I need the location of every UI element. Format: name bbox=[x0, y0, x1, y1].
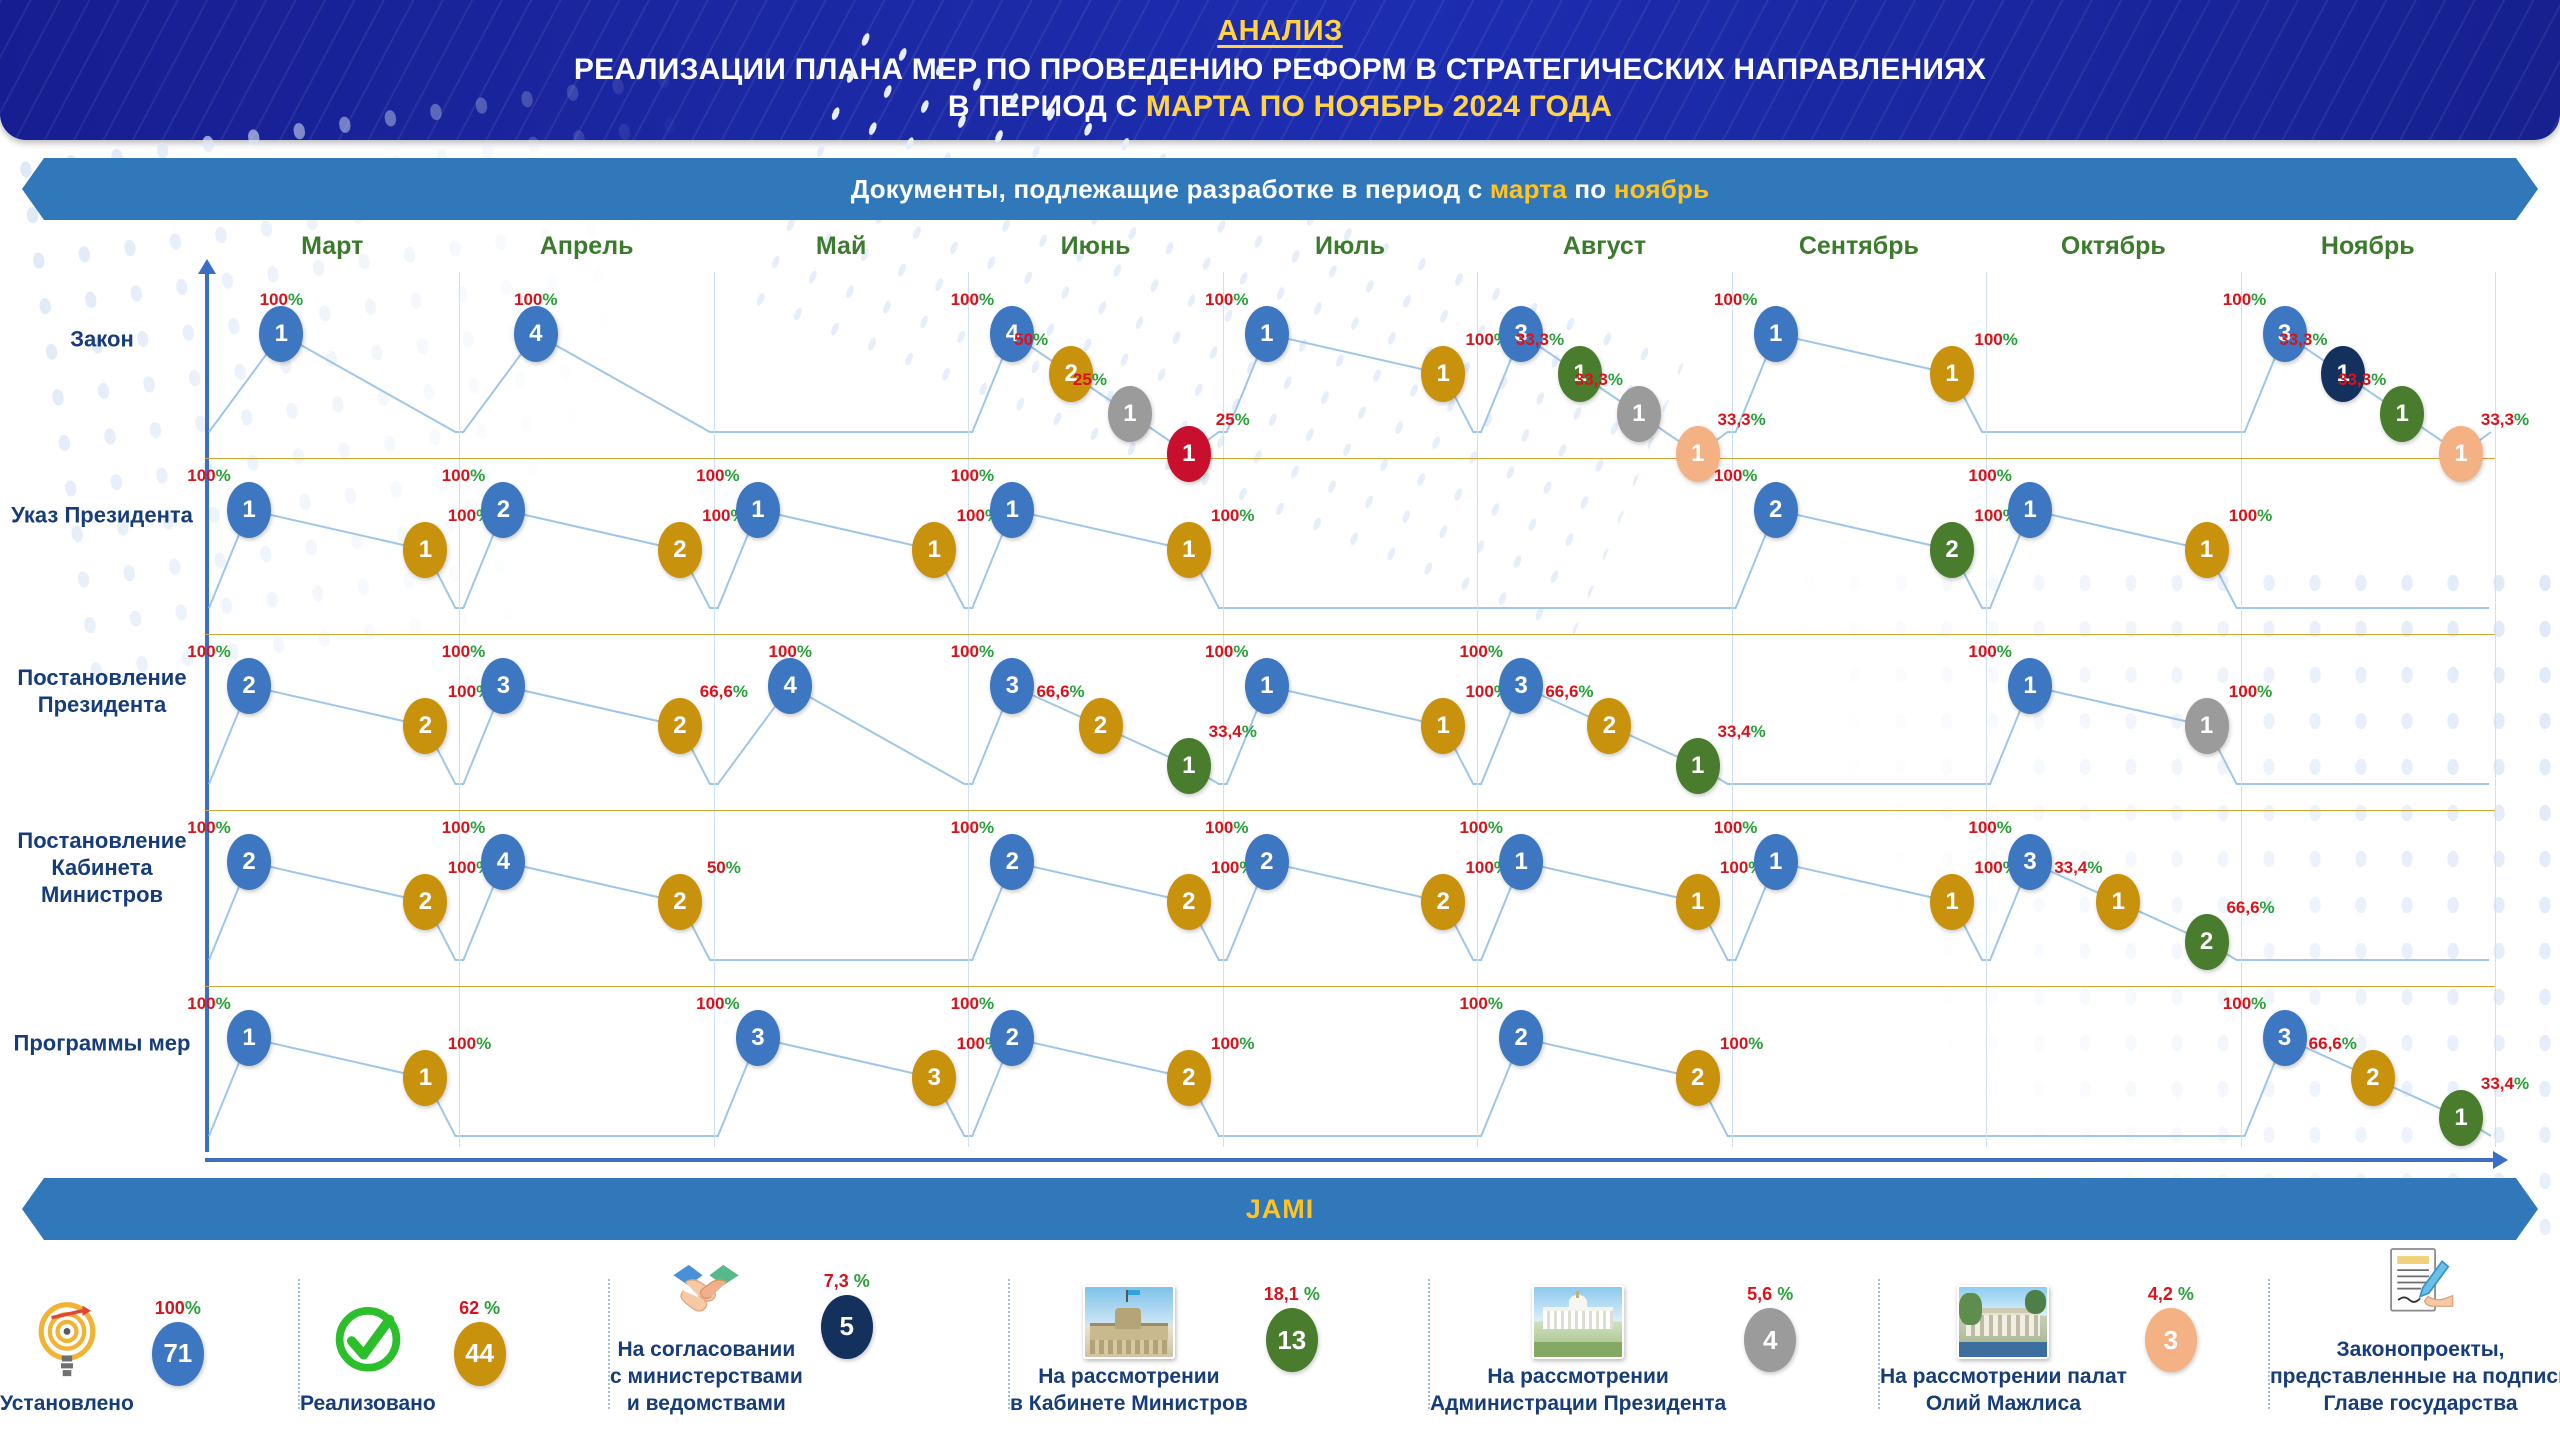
chart-node: 3 bbox=[1499, 658, 1543, 714]
legend-item-value-bubble: 44 bbox=[454, 1322, 506, 1386]
legend-item-label: На рассмотрении палатОлий Мажлиса bbox=[1880, 1363, 2127, 1418]
row-separator bbox=[205, 986, 2495, 987]
chart-node-percent: 100% bbox=[951, 818, 995, 838]
legend-item-value-bubble: 5 bbox=[821, 1295, 873, 1359]
month-header-row: МартАпрельМайИюньИюльАвгустСентябрьОктяб… bbox=[0, 232, 2560, 278]
green-check-icon bbox=[322, 1290, 414, 1386]
chart-node-percent: 50% bbox=[707, 858, 741, 878]
chart-node-percent: 100% bbox=[1720, 1034, 1764, 1054]
chart-node: 2 bbox=[1499, 1010, 1543, 1066]
footer-legend: Установлено100%71 Реализовано62 %44 На с… bbox=[0, 1248, 2560, 1440]
row-label-1: Закон bbox=[2, 327, 202, 354]
jami-banner-text: JAMI bbox=[1246, 1194, 1315, 1225]
chart-node: 4 bbox=[768, 658, 812, 714]
vertical-gridline bbox=[2495, 272, 2496, 1147]
month-label-5: Июль bbox=[1315, 232, 1385, 261]
target-bulb-icon bbox=[21, 1290, 113, 1386]
chart-node: 1 bbox=[2380, 386, 2424, 442]
chart-node-percent: 66,6% bbox=[2309, 1034, 2357, 1054]
chart-node-percent: 100% bbox=[442, 642, 486, 662]
chart-node-percent: 100% bbox=[1968, 818, 2012, 838]
chart-node-percent: 66,6% bbox=[700, 682, 748, 702]
header-period-prefix: В ПЕРИОД С bbox=[948, 90, 1146, 123]
series-connector-line bbox=[209, 862, 2489, 960]
month-label-8: Октябрь bbox=[2061, 232, 2166, 261]
chart-node-percent: 100% bbox=[1459, 994, 1503, 1014]
chart-node-percent: 33,3% bbox=[1575, 370, 1623, 390]
chart-node-percent: 100% bbox=[696, 994, 740, 1014]
chart-node-percent: 100% bbox=[1211, 1034, 1255, 1054]
chart-node: 2 bbox=[1930, 522, 1974, 578]
legend-item-label: На согласованиис министерствамии ведомст… bbox=[610, 1336, 803, 1418]
chart-node: 1 bbox=[2185, 522, 2229, 578]
signing-document-icon bbox=[2375, 1236, 2467, 1332]
vertical-gridline bbox=[714, 272, 715, 1147]
chart-node: 1 bbox=[1245, 306, 1289, 362]
legend-item-value-bubble: 4 bbox=[1744, 1308, 1796, 1372]
legend-item-7[interactable]: Законопроекты,представленные на подписьГ… bbox=[2270, 1257, 2560, 1432]
chart-node-percent: 100% bbox=[442, 818, 486, 838]
chart-plot: 1100%4100%4100%250%125%125%1100%1100%313… bbox=[205, 282, 2495, 1162]
chart-node: 4 bbox=[481, 834, 525, 890]
chart-node: 1 bbox=[1421, 698, 1465, 754]
chart-node: 2 bbox=[658, 698, 702, 754]
chart-node: 1 bbox=[2008, 658, 2052, 714]
chart-node: 2 bbox=[227, 834, 271, 890]
chart-node-percent: 100% bbox=[1459, 642, 1503, 662]
chart-node-percent: 100% bbox=[1205, 290, 1249, 310]
legend-item-label: Реализовано bbox=[300, 1390, 436, 1417]
chart-node: 1 bbox=[403, 1050, 447, 1106]
legend-item-4[interactable]: На рассмотрениив Кабинете Министров18,1 … bbox=[1010, 1257, 1430, 1432]
chart-node: 3 bbox=[2008, 834, 2052, 890]
vertical-gridline bbox=[1477, 272, 1478, 1147]
chart-node: 2 bbox=[403, 874, 447, 930]
chart-node-percent: 50% bbox=[1014, 330, 1048, 350]
chart-node-percent: 33,4% bbox=[2054, 858, 2102, 878]
chart-node-percent: 100% bbox=[1974, 330, 2018, 350]
header-period-accent: МАРТА ПО НОЯБРЬ 2024 ГОДА bbox=[1146, 90, 1612, 123]
header-subtitle: РЕАЛИЗАЦИИ ПЛАНА МЕР ПО ПРОВЕДЕНИЮ РЕФОР… bbox=[574, 52, 1986, 125]
chart-node: 2 bbox=[227, 658, 271, 714]
chart-node: 2 bbox=[1167, 874, 1211, 930]
chart-node: 1 bbox=[227, 482, 271, 538]
chart-node: 2 bbox=[990, 1010, 1034, 1066]
chart-node: 2 bbox=[990, 834, 1034, 890]
chart-node: 1 bbox=[259, 306, 303, 362]
chart-node-percent: 100% bbox=[2229, 506, 2273, 526]
chart-node: 2 bbox=[658, 522, 702, 578]
chart-node: 2 bbox=[1587, 698, 1631, 754]
series-connector-line bbox=[209, 1038, 2491, 1136]
chart-node: 2 bbox=[1421, 874, 1465, 930]
chart-node: 2 bbox=[1676, 1050, 1720, 1106]
chart-node: 2 bbox=[1079, 698, 1123, 754]
chart-node: 2 bbox=[1754, 482, 1798, 538]
chart-node: 1 bbox=[1499, 834, 1543, 890]
chart-node-percent: 100% bbox=[260, 290, 304, 310]
vertical-gridline bbox=[2241, 272, 2242, 1147]
chart-node: 4 bbox=[514, 306, 558, 362]
chart-node-percent: 100% bbox=[951, 290, 995, 310]
legend-item-value-bubble: 71 bbox=[152, 1322, 204, 1386]
chart-node: 1 bbox=[912, 522, 956, 578]
chart-node-percent: 33,4% bbox=[1718, 722, 1766, 742]
chart-node: 2 bbox=[2351, 1050, 2395, 1106]
month-label-6: Август bbox=[1563, 232, 1646, 261]
chart-node: 1 bbox=[990, 482, 1034, 538]
chart-area: МартАпрельМайИюньИюльАвгустСентябрьОктяб… bbox=[0, 232, 2560, 1162]
chart-node: 1 bbox=[1930, 346, 1974, 402]
series-connector-line bbox=[209, 510, 2489, 608]
legend-item-label: Законопроекты,представленные на подписьГ… bbox=[2270, 1336, 2560, 1418]
chart-node-percent: 100% bbox=[1714, 466, 1758, 486]
chart-node: 1 bbox=[1108, 386, 1152, 442]
chart-node: 1 bbox=[1676, 874, 1720, 930]
chart-node: 1 bbox=[1676, 738, 1720, 794]
parliament-building-photo bbox=[1957, 1285, 2049, 1359]
chart-node-percent: 66,6% bbox=[1036, 682, 1084, 702]
presidential-palace-photo bbox=[1532, 1263, 1624, 1359]
chart-node-percent: 33,3% bbox=[2481, 410, 2529, 430]
chart-node: 2 bbox=[1245, 834, 1289, 890]
chart-node-percent: 33,3% bbox=[1718, 410, 1766, 430]
chart-node: 3 bbox=[990, 658, 1034, 714]
chart-node: 1 bbox=[1167, 522, 1211, 578]
chart-node: 1 bbox=[1754, 834, 1798, 890]
chart-node-percent: 100% bbox=[1205, 818, 1249, 838]
chart-node-percent: 100% bbox=[187, 642, 231, 662]
chart-node: 2 bbox=[481, 482, 525, 538]
chart-node: 1 bbox=[2439, 1090, 2483, 1146]
header-subtitle-line1: РЕАЛИЗАЦИИ ПЛАНА МЕР ПО ПРОВЕДЕНИЮ РЕФОР… bbox=[574, 53, 1986, 86]
subtitle-banner: Документы, подлежащие разработке в перио… bbox=[22, 158, 2538, 220]
legend-item-1[interactable]: Установлено100%71 bbox=[0, 1257, 300, 1432]
month-label-4: Июнь bbox=[1061, 232, 1131, 261]
chart-node-percent: 100% bbox=[1714, 290, 1758, 310]
month-label-2: Апрель bbox=[540, 232, 634, 261]
legend-item-label: На рассмотренииАдминистрации Президента bbox=[1430, 1363, 1726, 1418]
vertical-gridline bbox=[1986, 272, 1987, 1147]
chart-node: 1 bbox=[2439, 426, 2483, 482]
legend-item-value-bubble: 13 bbox=[1266, 1308, 1318, 1372]
chart-node: 1 bbox=[403, 522, 447, 578]
legend-item-2[interactable]: Реализовано62 %44 bbox=[300, 1257, 610, 1432]
chart-node-percent: 66,6% bbox=[1545, 682, 1593, 702]
chart-node-percent: 100% bbox=[2229, 682, 2273, 702]
chart-node: 1 bbox=[1245, 658, 1289, 714]
row-label-5: Программы мер bbox=[2, 1031, 202, 1058]
chart-node: 1 bbox=[227, 1010, 271, 1066]
header-title-analiz: АНАЛИЗ bbox=[1217, 15, 1343, 48]
legend-item-percent: 5,6 % bbox=[1747, 1284, 1793, 1305]
legend-item-3[interactable]: На согласованиис министерствамии ведомст… bbox=[610, 1257, 1010, 1432]
chart-node: 2 bbox=[1167, 1050, 1211, 1106]
row-separator bbox=[205, 634, 2495, 635]
page-header: АНАЛИЗ РЕАЛИЗАЦИИ ПЛАНА МЕР ПО ПРОВЕДЕНИ… bbox=[0, 0, 2560, 140]
chart-node: 1 bbox=[736, 482, 780, 538]
chart-node-percent: 100% bbox=[1459, 818, 1503, 838]
chart-node: 1 bbox=[1930, 874, 1974, 930]
vertical-gridline bbox=[459, 272, 460, 1147]
subtitle-banner-text: Документы, подлежащие разработке в перио… bbox=[851, 174, 1710, 205]
legend-item-percent: 18,1 % bbox=[1264, 1284, 1320, 1305]
cabinet-building-photo bbox=[1083, 1285, 1175, 1359]
chart-node-percent: 33,4% bbox=[2481, 1074, 2529, 1094]
chart-node: 1 bbox=[1421, 346, 1465, 402]
row-label-2: Указ Президента bbox=[2, 503, 202, 530]
vertical-gridline bbox=[1732, 272, 1733, 1147]
chart-node-percent: 100% bbox=[187, 994, 231, 1014]
parliament-building-photo bbox=[1957, 1263, 2049, 1359]
legend-item-value-bubble: 3 bbox=[2145, 1308, 2197, 1372]
chart-node-percent: 100% bbox=[1205, 642, 1249, 662]
month-label-9: Ноябрь bbox=[2321, 232, 2415, 261]
chart-node-percent: 100% bbox=[2223, 290, 2267, 310]
vertical-gridline bbox=[968, 272, 969, 1147]
chart-node-percent: 33,3% bbox=[1516, 330, 1564, 350]
chart-node-percent: 33,4% bbox=[1209, 722, 1257, 742]
chart-node: 3 bbox=[912, 1050, 956, 1106]
chart-node-percent: 100% bbox=[768, 642, 812, 662]
chart-node: 1 bbox=[1167, 738, 1211, 794]
subtitle-accent-november: ноябрь bbox=[1614, 174, 1710, 204]
chart-node: 3 bbox=[736, 1010, 780, 1066]
chart-node-percent: 25% bbox=[1216, 410, 1250, 430]
vertical-gridline bbox=[1223, 272, 1224, 1147]
chart-node-percent: 100% bbox=[514, 290, 558, 310]
chart-node: 2 bbox=[403, 698, 447, 754]
jami-banner: JAMI bbox=[22, 1178, 2538, 1240]
chart-node: 2 bbox=[2185, 914, 2229, 970]
subtitle-prefix: Документы, подлежащие разработке в перио… bbox=[851, 174, 1490, 204]
chart-node: 1 bbox=[2096, 874, 2140, 930]
month-label-3: Май bbox=[816, 232, 866, 261]
chart-node-percent: 33,3% bbox=[2279, 330, 2327, 350]
legend-item-label: Установлено bbox=[0, 1390, 134, 1417]
month-label-1: Март bbox=[301, 232, 363, 261]
cabinet-building-photo bbox=[1083, 1263, 1175, 1359]
legend-item-percent: 62 % bbox=[459, 1298, 500, 1319]
chart-node-percent: 100% bbox=[696, 466, 740, 486]
chart-node-percent: 100% bbox=[1211, 506, 1255, 526]
chart-node: 3 bbox=[2263, 1010, 2307, 1066]
chart-node: 1 bbox=[1167, 426, 1211, 482]
legend-item-percent: 100% bbox=[155, 1298, 201, 1319]
subtitle-accent-march: марта bbox=[1490, 174, 1567, 204]
chart-node-percent: 100% bbox=[187, 466, 231, 486]
chart-node-percent: 100% bbox=[2223, 994, 2267, 1014]
subtitle-mid: по bbox=[1567, 174, 1614, 204]
month-label-7: Сентябрь bbox=[1799, 232, 1919, 261]
row-separator bbox=[205, 458, 2495, 459]
chart-node: 1 bbox=[2008, 482, 2052, 538]
series-connector-line bbox=[209, 686, 2489, 784]
chart-node-percent: 100% bbox=[951, 466, 995, 486]
handshake-icon bbox=[660, 1236, 752, 1332]
chart-node: 1 bbox=[2185, 698, 2229, 754]
chart-node: 2 bbox=[658, 874, 702, 930]
legend-item-5[interactable]: На рассмотренииАдминистрации Президента5… bbox=[1430, 1257, 1880, 1432]
chart-node-percent: 100% bbox=[442, 466, 486, 486]
row-label-3: Постановление Президента bbox=[2, 665, 202, 719]
chart-node-percent: 100% bbox=[1714, 818, 1758, 838]
chart-node-percent: 25% bbox=[1073, 370, 1107, 390]
chart-node: 1 bbox=[1617, 386, 1661, 442]
chart-node-percent: 100% bbox=[1968, 642, 2012, 662]
row-separator bbox=[205, 810, 2495, 811]
chart-node-percent: 33,3% bbox=[2338, 370, 2386, 390]
legend-item-label: На рассмотрениив Кабинете Министров bbox=[1010, 1363, 1248, 1418]
presidential-palace-photo bbox=[1532, 1285, 1624, 1359]
chart-node-percent: 66,6% bbox=[2226, 898, 2274, 918]
chart-node: 1 bbox=[1754, 306, 1798, 362]
legend-item-6[interactable]: На рассмотрении палатОлий Мажлиса4,2 %3 bbox=[1880, 1257, 2270, 1432]
chart-node: 3 bbox=[481, 658, 525, 714]
chart-node-percent: 100% bbox=[951, 642, 995, 662]
legend-item-percent: 7,3 % bbox=[824, 1271, 870, 1292]
chart-node-percent: 100% bbox=[448, 1034, 492, 1054]
connector-lines bbox=[205, 282, 2495, 1162]
legend-item-percent: 4,2 % bbox=[2148, 1284, 2194, 1305]
chart-node-percent: 100% bbox=[951, 994, 995, 1014]
chart-node-percent: 100% bbox=[1968, 466, 2012, 486]
row-label-4: Постановление Кабинета Министров bbox=[2, 828, 202, 908]
